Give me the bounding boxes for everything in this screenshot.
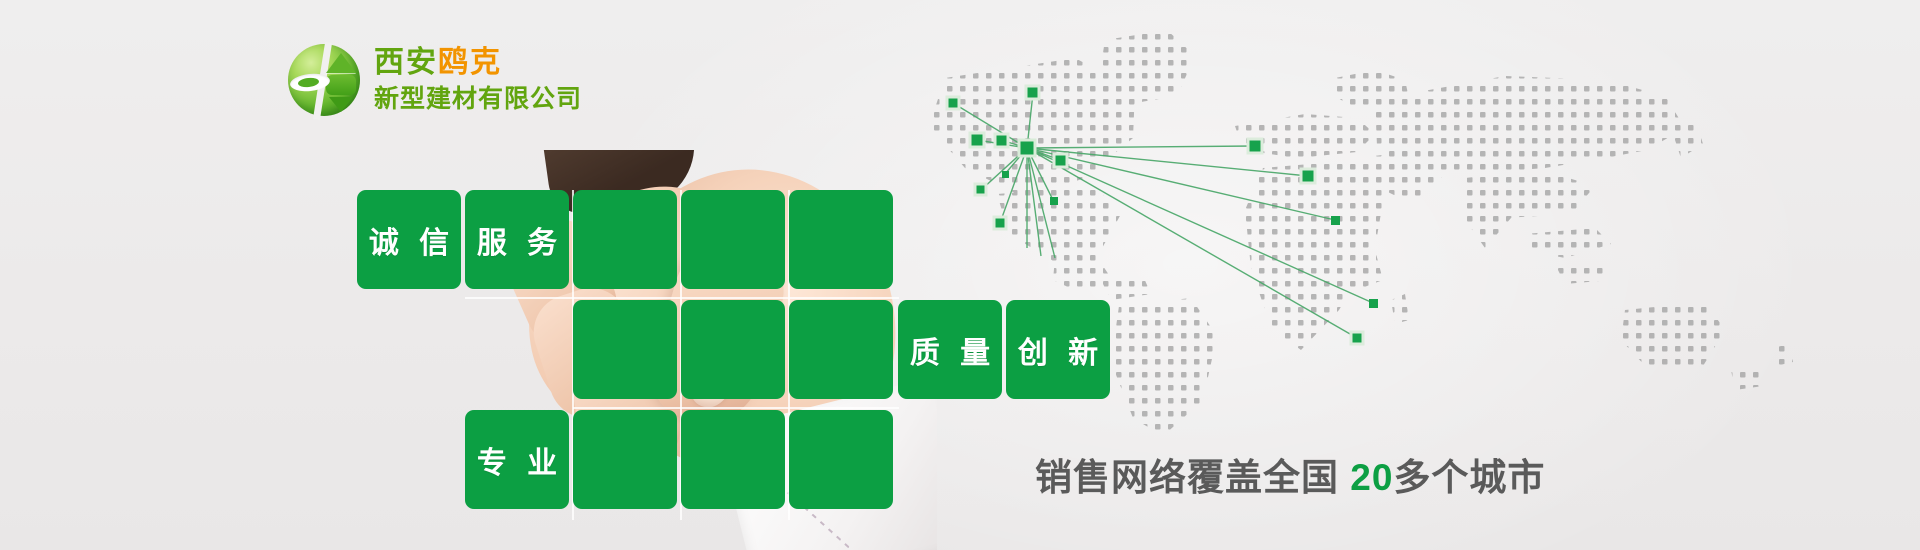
tile-service[interactable]: 服 务 (465, 190, 569, 289)
tile-integrity[interactable]: 诚 信 (357, 190, 461, 289)
tile-professional[interactable]: 专 业 (465, 410, 569, 509)
tile-blank-r1c4[interactable] (681, 190, 785, 289)
tile-blank-r3c5[interactable] (789, 410, 893, 509)
logo-title-line: 西安鸥克 (374, 48, 582, 78)
world-map-svg (905, 18, 1905, 438)
tile-blank-r2c4[interactable] (681, 300, 785, 399)
sales-network-tagline: 销售网络覆盖全国 20多个城市 (1035, 447, 1545, 501)
handshake-tile-grid: 诚 信 服 务 专 业 (357, 190, 899, 520)
logo-text: 西安鸥克 新型建材有限公司 (374, 48, 582, 112)
tile-blank-r3c4[interactable] (681, 410, 785, 509)
tagline-highlight: 20 (1350, 457, 1393, 498)
tile-label: 专 业 (471, 438, 563, 482)
tiles: 诚 信 服 务 专 业 (357, 190, 899, 520)
tile-blank-r2c3[interactable] (573, 300, 677, 399)
tile-blank-r1c3[interactable] (573, 190, 677, 289)
map-landmass (905, 18, 1905, 438)
tile-blank-r1c5[interactable] (789, 190, 893, 289)
promo-banner: 西安鸥克 新型建材有限公司 诚 信 (0, 0, 1920, 550)
logo-subtitle: 新型建材有限公司 (374, 87, 582, 112)
tile-label: 诚 信 (363, 218, 455, 262)
logo-city: 西安 (374, 46, 438, 79)
tagline-prefix: 销售网络覆盖全国 (1035, 457, 1350, 498)
logo-brand: 鸥克 (438, 46, 502, 79)
tile-blank-r2c5[interactable] (789, 300, 893, 399)
world-dot-map (905, 18, 1905, 438)
tagline-suffix: 多个城市 (1393, 457, 1545, 498)
tile-label: 服 务 (471, 218, 563, 262)
company-logo[interactable]: 西安鸥克 新型建材有限公司 (288, 44, 582, 116)
tile-blank-r3c3[interactable] (573, 410, 677, 509)
leaf-globe-icon (288, 44, 360, 116)
